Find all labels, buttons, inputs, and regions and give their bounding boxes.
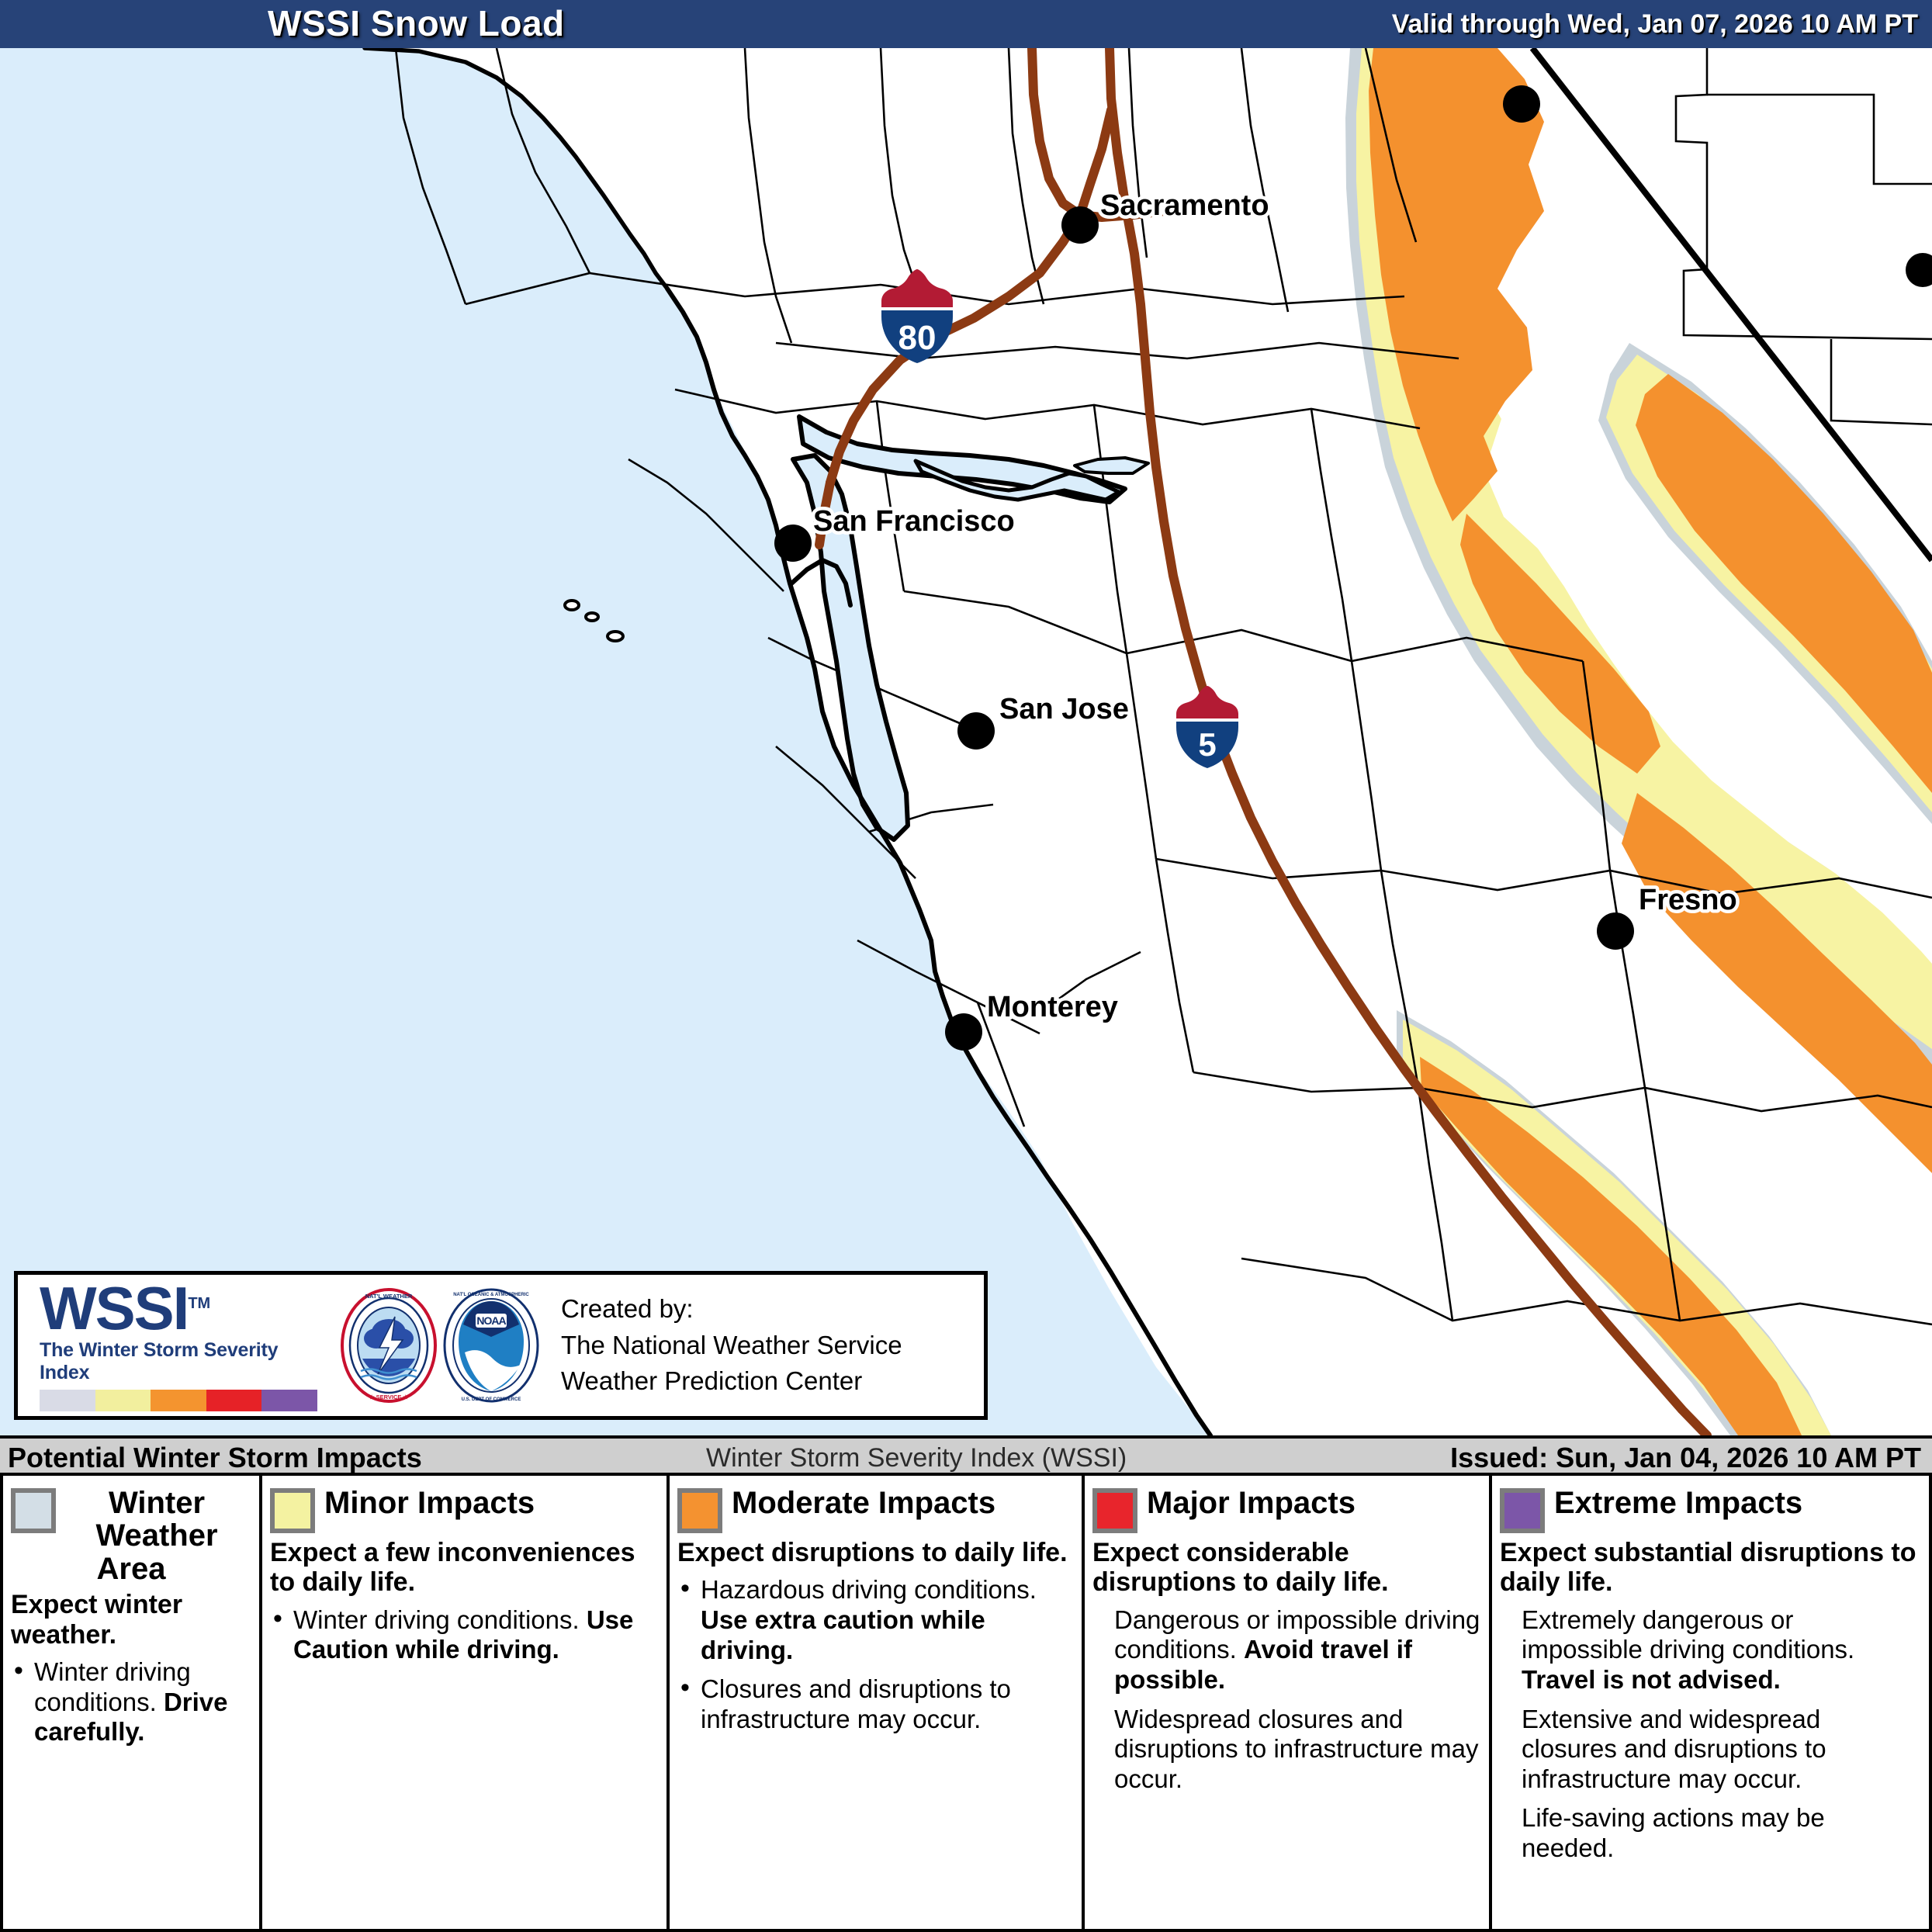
- legend-swatch-major-impacts: [1092, 1488, 1137, 1533]
- wssi-word: WSSITM: [40, 1279, 328, 1337]
- map-canvas[interactable]: 80 5 Sacramento San Francisco San Jose: [0, 48, 1932, 1435]
- city-dot-san-jose: [957, 712, 995, 750]
- impact-bar-title: Potential Winter Storm Impacts: [8, 1442, 422, 1474]
- city-label-fresno: Fresno: [1639, 884, 1737, 916]
- legend-text-emphasis: Travel is not advised.: [1522, 1665, 1781, 1694]
- legend-bullet-major-impacts-0: Dangerous or impossible driving conditio…: [1092, 1605, 1481, 1695]
- valid-through-label: Valid through Wed, Jan 07, 2026 10 AM PT: [1392, 9, 1918, 40]
- legend-column-extreme-impacts: Extreme ImpactsExpect substantial disrup…: [1489, 1476, 1929, 1929]
- credit-block: Created by: The National Weather Service…: [561, 1291, 902, 1401]
- legend-text: Extremely dangerous or impossible drivin…: [1522, 1605, 1854, 1664]
- credit-line-2: The National Weather Service: [561, 1328, 902, 1364]
- legend-bullet-moderate-impacts-0: •Hazardous driving conditions. Use extra…: [677, 1575, 1074, 1665]
- agency-seals: NAT'L WEATHER ★ SERVICE ★ NOAA NAT'L OCE…: [339, 1287, 541, 1404]
- legend-swatch-extreme-impacts: [1500, 1488, 1545, 1533]
- nws-seal-bottom-text: ★ SERVICE ★: [369, 1394, 410, 1401]
- impact-legend: Winter Weather AreaExpect winter weather…: [0, 1476, 1932, 1932]
- legend-column-moderate-impacts: Moderate ImpactsExpect disruptions to da…: [667, 1476, 1082, 1929]
- legend-title-winter-weather-area: Winter Weather Area: [95, 1486, 217, 1586]
- noaa-seal-text: NOAA: [476, 1314, 506, 1327]
- legend-text: Extensive and widespread closures and di…: [1522, 1705, 1826, 1793]
- legend-title-moderate-impacts: Moderate Impacts: [732, 1487, 995, 1519]
- legend-column-minor-impacts: Minor ImpactsExpect a few inconveniences…: [259, 1476, 667, 1929]
- city-dot-san-francisco: [774, 525, 812, 562]
- legend-column-major-impacts: Major ImpactsExpect considerable disrupt…: [1082, 1476, 1489, 1929]
- legend-bullet-minor-impacts-0: •Winter driving conditions. Use Caution …: [270, 1605, 659, 1665]
- impact-bar: Potential Winter Storm Impacts Winter St…: [0, 1435, 1932, 1476]
- city-label-san-francisco: San Francisco: [813, 505, 1015, 538]
- city-dot-fresno: [1597, 912, 1634, 950]
- legend-intro-major-impacts: Expect considerable disruptions to daily…: [1092, 1538, 1481, 1598]
- city-dot-sacramento: [1061, 206, 1099, 244]
- legend-bullet-moderate-impacts-1: •Closures and disruptions to infrastruct…: [677, 1674, 1074, 1734]
- national-weather-service-seal: NAT'L WEATHER ★ SERVICE ★: [339, 1287, 438, 1404]
- legend-column-winter-weather-area: Winter Weather AreaExpect winter weather…: [3, 1476, 259, 1929]
- impact-bar-subtitle: Winter Storm Severity Index (WSSI): [706, 1443, 1127, 1473]
- wssi-word-text: WSSI: [40, 1274, 188, 1342]
- legend-swatch-moderate-impacts: [677, 1488, 722, 1533]
- legend-text: Widespread closures and disruptions to i…: [1114, 1705, 1479, 1793]
- scale-swatch-moderate: [151, 1390, 206, 1411]
- legend-text: Closures and disruptions to infrastructu…: [701, 1674, 1011, 1733]
- issued-label: Issued: Sun, Jan 04, 2026 10 AM PT: [1450, 1442, 1921, 1474]
- legend-header-moderate-impacts: Moderate Impacts: [677, 1487, 1074, 1533]
- wssi-wordmark: WSSITM The Winter Storm Severity Index: [18, 1279, 328, 1411]
- city-label-san-jose: San Jose: [999, 693, 1129, 725]
- legend-header-major-impacts: Major Impacts: [1092, 1487, 1481, 1533]
- noaa-seal-bottom-text: U.S. DEPT OF COMMERCE: [462, 1397, 521, 1402]
- legend-intro-minor-impacts: Expect a few inconveniences to daily lif…: [270, 1538, 659, 1598]
- legend-text: Life-saving actions may be needed.: [1522, 1803, 1825, 1862]
- legend-header-extreme-impacts: Extreme Impacts: [1500, 1487, 1921, 1533]
- legend-bullets-extreme-impacts: Extremely dangerous or impossible drivin…: [1500, 1605, 1921, 1864]
- page-title: WSSI Snow Load: [268, 2, 565, 44]
- legend-intro-extreme-impacts: Expect substantial disruptions to daily …: [1500, 1538, 1921, 1598]
- noaa-seal-top-text: NAT'L OCEANIC & ATMOSPHERIC: [453, 1293, 529, 1297]
- legend-bullets-winter-weather-area: •Winter driving conditions. Drive carefu…: [11, 1657, 251, 1747]
- nws-seal-top-text: NAT'L WEATHER: [365, 1293, 413, 1300]
- legend-header-winter-weather-area: Winter Weather Area: [11, 1487, 251, 1585]
- legend-bullets-moderate-impacts: •Hazardous driving conditions. Use extra…: [677, 1575, 1074, 1734]
- city-dot-reno: [1503, 85, 1540, 123]
- legend-swatch-winter-weather-area: [11, 1488, 56, 1533]
- legend-text: Winter driving conditions.: [293, 1605, 587, 1634]
- legend-text: Hazardous driving conditions.: [701, 1575, 1037, 1604]
- legend-title-major-impacts: Major Impacts: [1147, 1487, 1356, 1519]
- legend-intro-moderate-impacts: Expect disruptions to daily life.: [677, 1538, 1074, 1567]
- city-label-monterey: Monterey: [987, 991, 1118, 1023]
- legend-bullet-winter-weather-area-0: •Winter driving conditions. Drive carefu…: [11, 1657, 251, 1747]
- city-dot-monterey: [945, 1013, 982, 1051]
- legend-bullet-extreme-impacts-2: Life-saving actions may be needed.: [1500, 1803, 1921, 1863]
- legend-bullets-major-impacts: Dangerous or impossible driving conditio…: [1092, 1605, 1481, 1795]
- scale-swatch-winter-weather: [40, 1390, 95, 1411]
- scale-swatch-extreme: [261, 1390, 317, 1411]
- legend-text-emphasis: Use extra caution while driving.: [701, 1605, 985, 1664]
- legend-swatch-minor-impacts: [270, 1488, 315, 1533]
- scale-swatch-major: [206, 1390, 262, 1411]
- credit-line-1: Created by:: [561, 1291, 902, 1328]
- city-label-sacramento: Sacramento: [1100, 189, 1269, 222]
- map-svg: 80 5 Sacramento San Francisco San Jose: [0, 48, 1932, 1435]
- bullet-dot-icon: •: [680, 1673, 690, 1704]
- credit-line-3: Weather Prediction Center: [561, 1363, 902, 1400]
- bullet-dot-icon: •: [680, 1574, 690, 1605]
- wssi-color-scale: [40, 1390, 317, 1411]
- wssi-tm: TM: [188, 1295, 210, 1312]
- legend-intro-winter-weather-area: Expect winter weather.: [11, 1590, 251, 1650]
- legend-bullet-extreme-impacts-1: Extensive and widespread closures and di…: [1500, 1705, 1921, 1795]
- noaa-seal: NOAA NAT'L OCEANIC & ATMOSPHERIC U.S. DE…: [441, 1287, 541, 1404]
- wssi-logo-box: WSSITM The Winter Storm Severity Index: [14, 1271, 988, 1420]
- wssi-subtitle: The Winter Storm Severity Index: [40, 1339, 328, 1384]
- bullet-dot-icon: •: [14, 1656, 23, 1687]
- scale-swatch-minor: [95, 1390, 151, 1411]
- legend-bullet-major-impacts-1: Widespread closures and disruptions to i…: [1092, 1705, 1481, 1795]
- legend-header-minor-impacts: Minor Impacts: [270, 1487, 659, 1533]
- page-header: WSSI Snow Load Valid through Wed, Jan 07…: [0, 0, 1932, 48]
- legend-title-extreme-impacts: Extreme Impacts: [1554, 1487, 1802, 1519]
- shield-number-80: 80: [898, 319, 937, 357]
- legend-title-minor-impacts: Minor Impacts: [324, 1487, 535, 1519]
- legend-bullet-extreme-impacts-0: Extremely dangerous or impossible drivin…: [1500, 1605, 1921, 1695]
- wssi-snow-load-map-page: WSSI Snow Load Valid through Wed, Jan 07…: [0, 0, 1932, 1932]
- bullet-dot-icon: •: [273, 1604, 282, 1635]
- legend-bullets-minor-impacts: •Winter driving conditions. Use Caution …: [270, 1605, 659, 1665]
- shield-number-5: 5: [1198, 726, 1216, 763]
